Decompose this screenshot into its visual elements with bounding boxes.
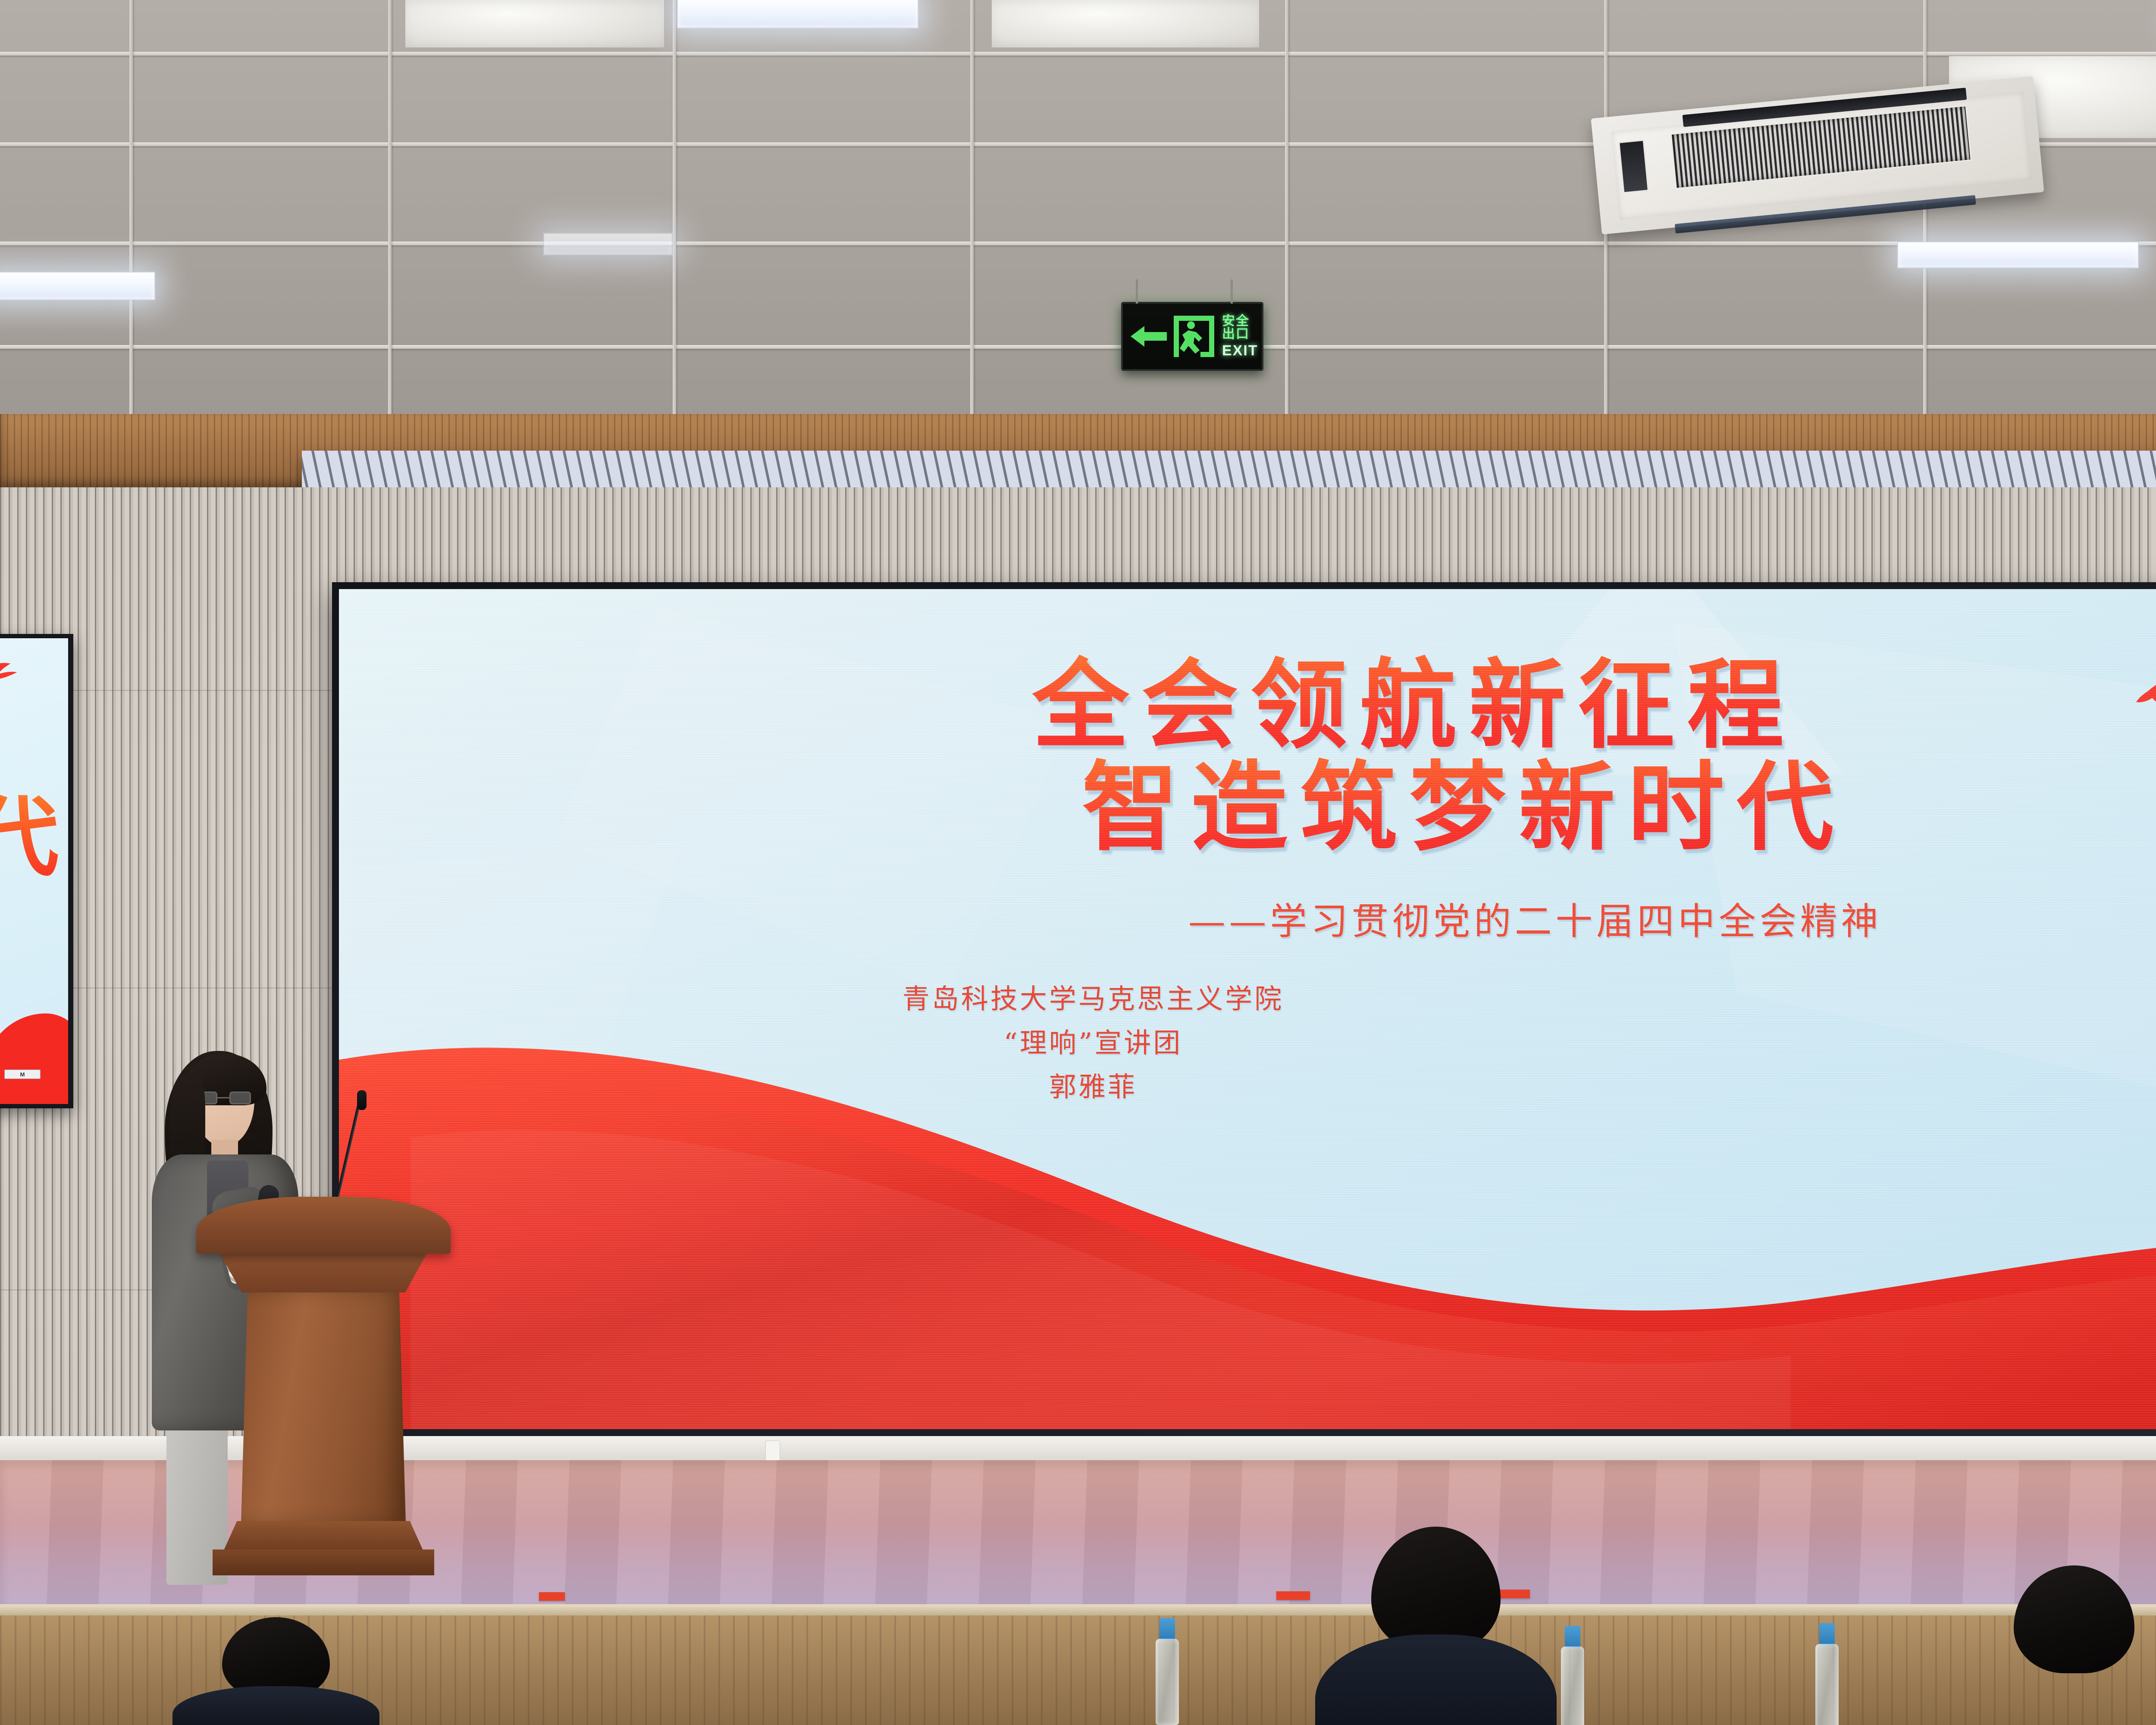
water-bottle: [1561, 1626, 1584, 1725]
ceiling: [0, 0, 2156, 440]
side-monitor-char: 代: [0, 768, 59, 893]
slide-title-group: 全会领航新征程 智造筑梦新时代: [339, 654, 2156, 859]
led-screen-bezel: 全会领航新征程 智造筑梦新时代 ——学习贯彻党的二十届四中全会精神 青岛科技大学…: [332, 582, 2156, 1436]
air-conditioner-unit: [1591, 76, 2044, 234]
exit-sign-label-en: EXIT: [1222, 343, 1258, 358]
slide-subtitle: ——学习贯彻党的二十届四中全会精神: [339, 891, 2156, 945]
audience-member: [1958, 1578, 2156, 1725]
podium: [196, 1197, 451, 1589]
audience-member: [1315, 1535, 1557, 1725]
side-monitor-ribbon: [0, 1013, 68, 1104]
floor-marker-tape: [1276, 1591, 1310, 1600]
podium-body: [241, 1291, 406, 1524]
water-bottle: [1156, 1618, 1179, 1725]
ceiling-light-panel: [0, 272, 155, 300]
left-arrow-icon: [1130, 323, 1168, 349]
exit-sign-label-cn: 安全出口: [1222, 315, 1258, 341]
ceiling-light-panel: [543, 233, 673, 255]
lecture-hall-scene: 安全出口 EXIT 代 M: [0, 0, 2156, 1725]
ceiling-light-panel: [677, 0, 918, 28]
audience-member: [172, 1630, 379, 1725]
bird-icon: [0, 655, 40, 694]
podium-foot: [213, 1549, 434, 1575]
led-screen: 全会领航新征程 智造筑梦新时代 ——学习贯彻党的二十届四中全会精神 青岛科技大学…: [339, 589, 2156, 1429]
water-bottle: [1815, 1623, 1839, 1725]
floor-marker-tape: [539, 1592, 565, 1601]
side-monitor-widget[interactable]: M: [4, 1069, 41, 1079]
slide-title-line2: 智造筑梦新时代: [339, 756, 2156, 858]
ceiling-light-panel: [1897, 241, 2139, 268]
podium-top: [196, 1197, 451, 1254]
exit-sign: 安全出口 EXIT: [1121, 302, 1263, 371]
stage-edge-trim: [0, 1604, 2156, 1615]
podium-neck: [219, 1251, 428, 1292]
slide-title-line1: 全会领航新征程: [339, 654, 2156, 756]
running-person-exit-icon: [1169, 312, 1218, 361]
red-ribbon-graphic: [339, 975, 2156, 1429]
podium-base: [223, 1521, 424, 1552]
side-monitor: 代 M: [0, 634, 73, 1108]
gooseneck-microphone-head: [357, 1090, 367, 1110]
